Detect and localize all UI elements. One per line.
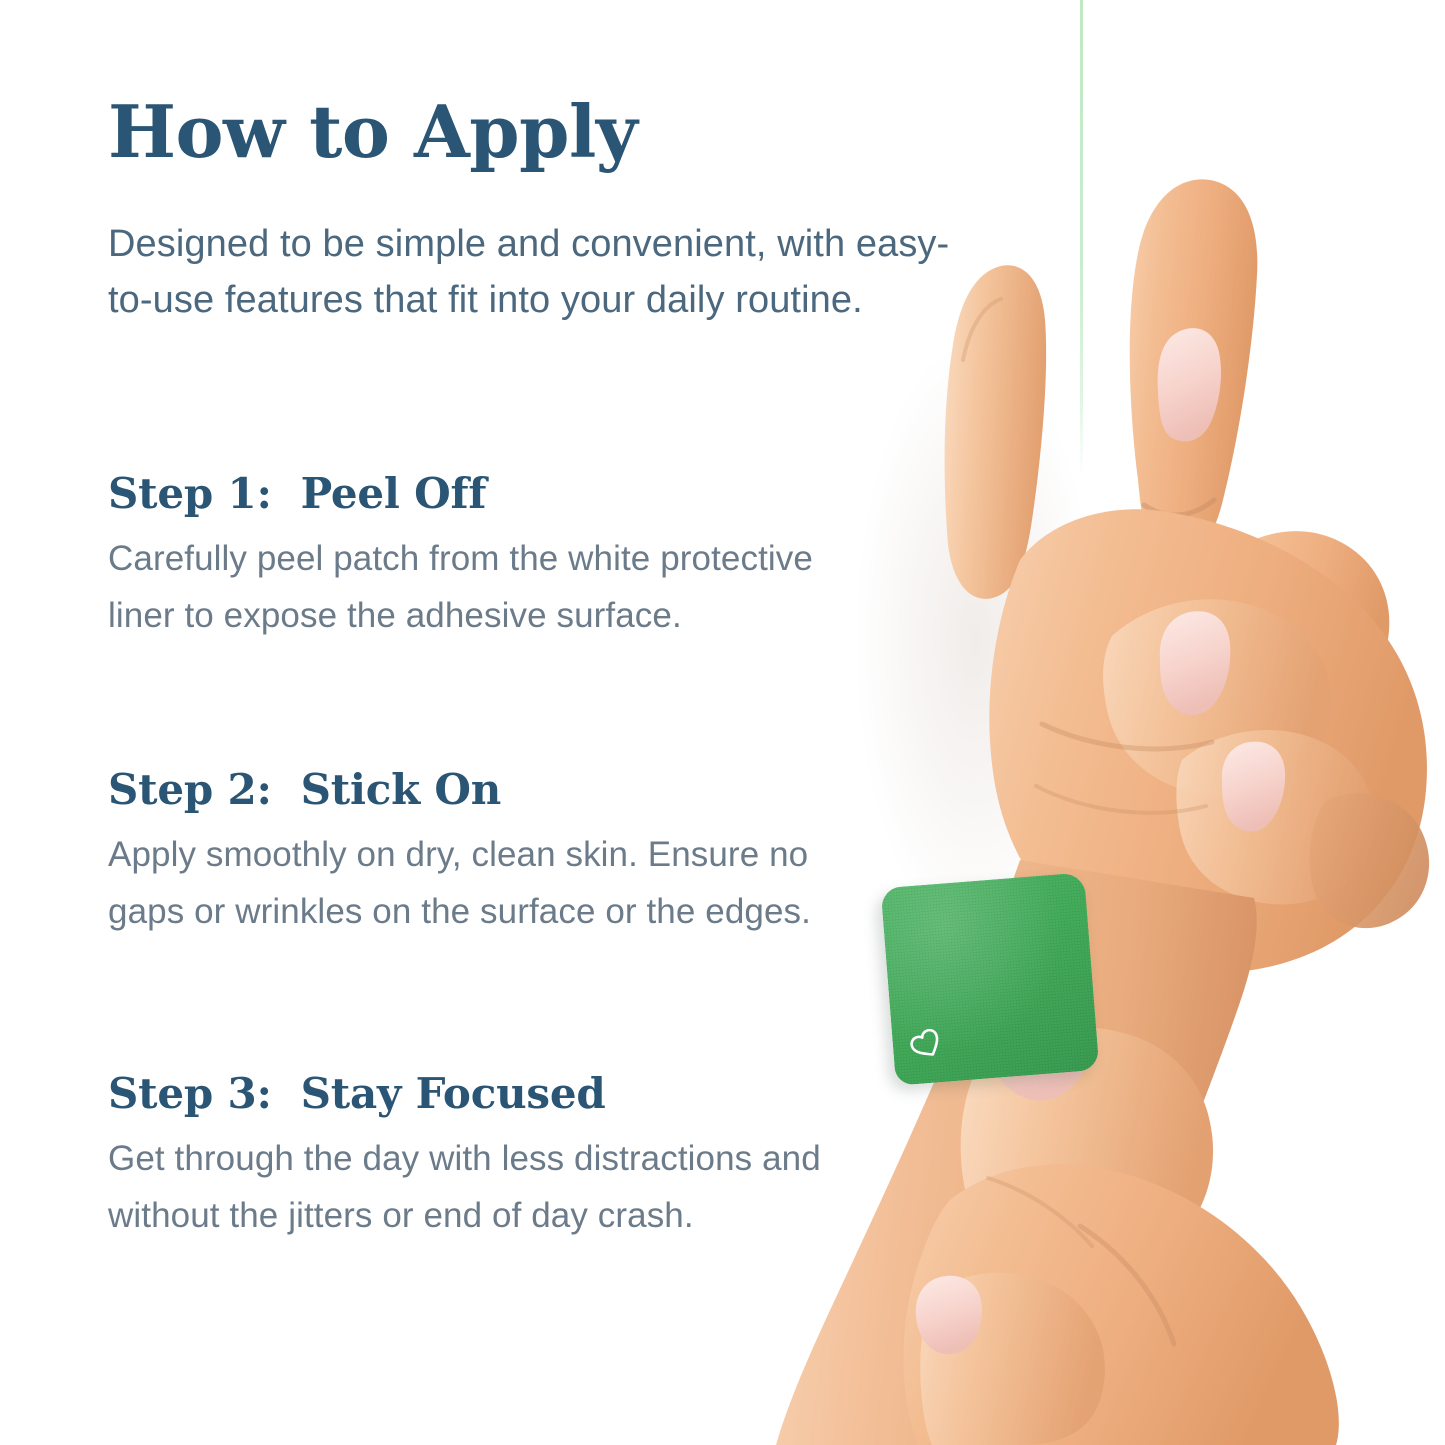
how-to-apply-infographic: How to Apply Designed to be simple and c… (0, 0, 1445, 1445)
step-3-title: Step 3: Stay Focused (108, 1070, 868, 1117)
page-title: How to Apply (108, 96, 637, 168)
step-2-title: Step 2: Stick On (108, 766, 868, 813)
intro-paragraph: Designed to be simple and convenient, wi… (108, 216, 988, 328)
step-1-title: Step 1: Peel Off (108, 470, 868, 517)
step-3-body: Get through the day with less distractio… (108, 1131, 868, 1244)
step-1-body: Carefully peel patch from the white prot… (108, 531, 868, 644)
green-patch (881, 872, 1100, 1085)
fingernail (916, 1276, 982, 1354)
step-item-3: Step 3: Stay Focused Get through the day… (108, 1070, 868, 1244)
step-2-body: Apply smoothly on dry, clean skin. Ensur… (108, 827, 868, 940)
heart-icon (909, 1028, 945, 1063)
step-item-1: Step 1: Peel Off Carefully peel patch fr… (108, 470, 868, 644)
step-item-2: Step 2: Stick On Apply smoothly on dry, … (108, 766, 868, 940)
